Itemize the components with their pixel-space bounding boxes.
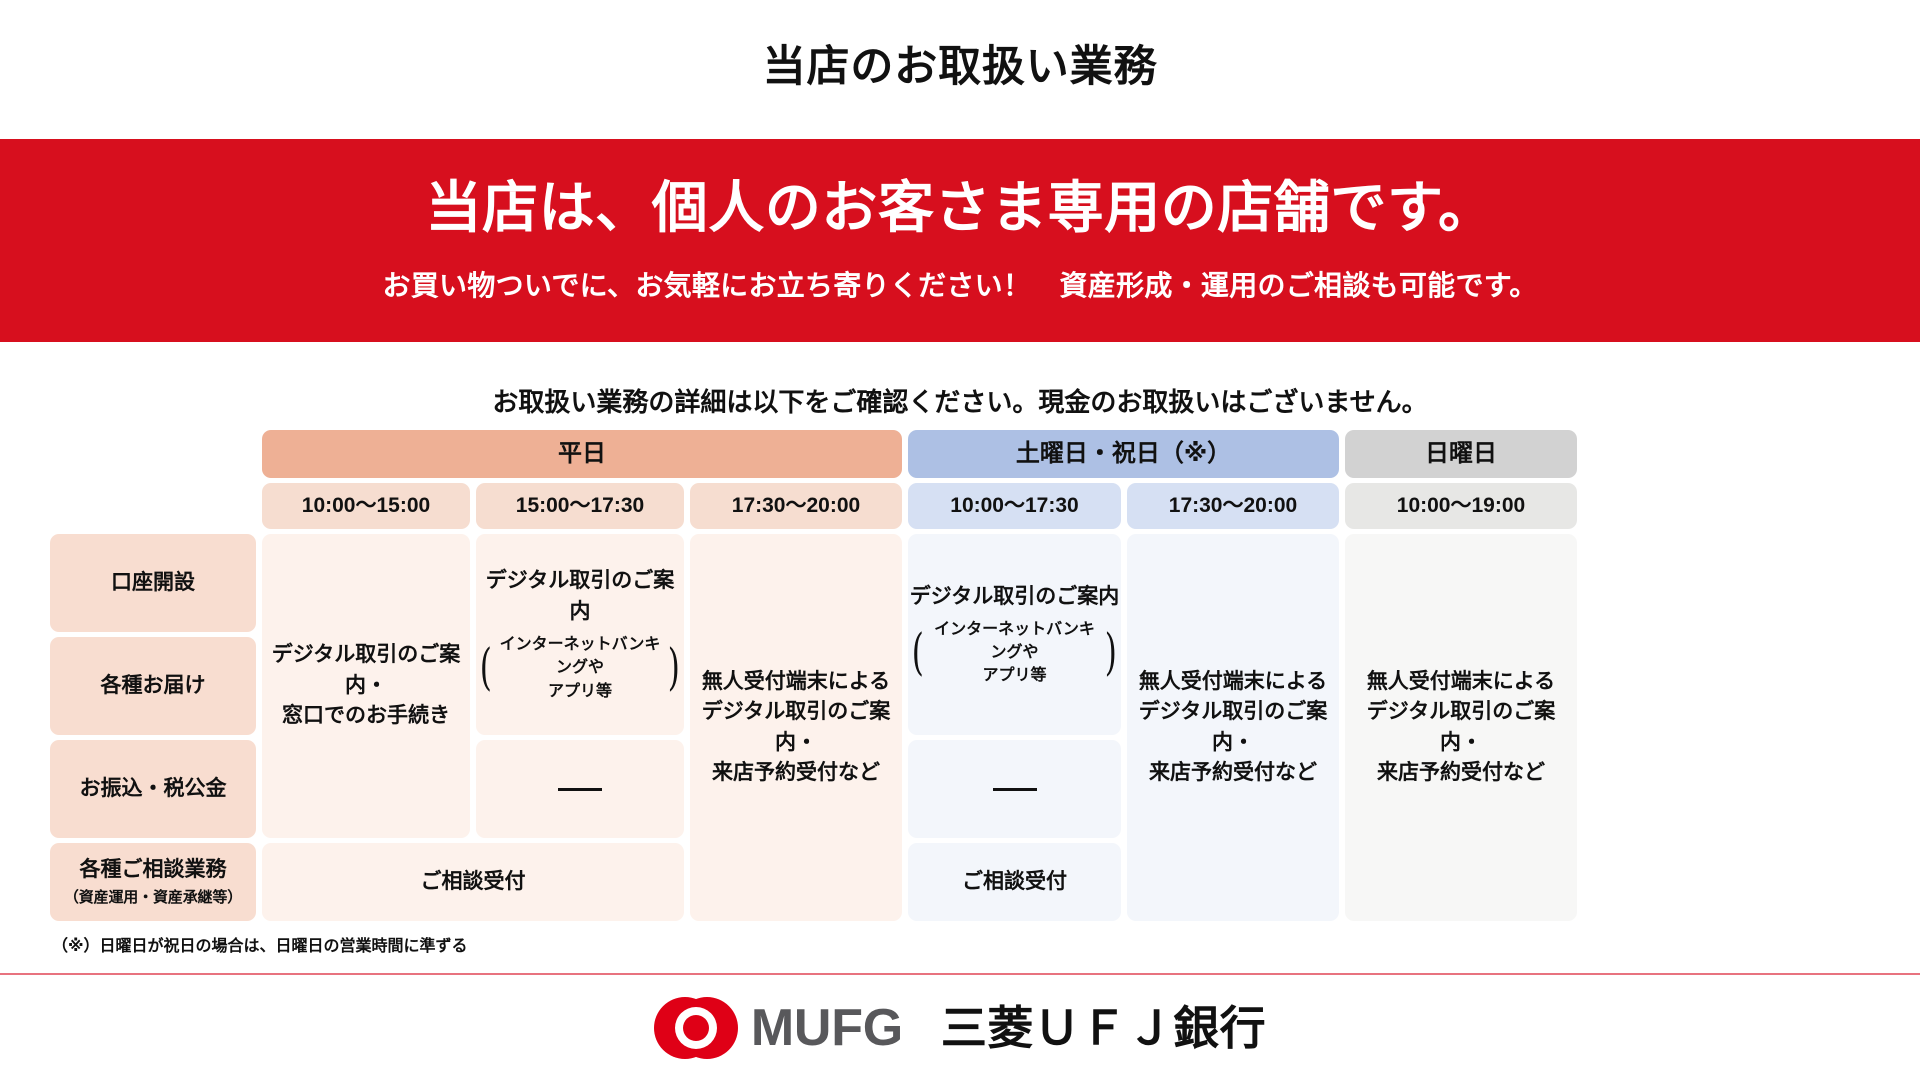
cell-weekday-1500-1730-note-text: インターネットバンキングや アプリ等 bbox=[496, 633, 665, 703]
table-footnote: （※）日曜日が祝日の場合は、日曜日の営業時間に準ずる bbox=[52, 932, 468, 956]
cell-weekday-1500-1730-title: デジタル取引のご案内 bbox=[476, 566, 684, 627]
time-header-saturday-1: 10:00〜17:30 bbox=[908, 483, 1121, 529]
table-lead-text: お取扱い業務の詳細は以下をご確認ください。現金のお取扱いはございません。 bbox=[0, 382, 1920, 419]
cell-sunday-1000-1900-text: 無人受付端末による デジタル取引のご案内・ 来店予約受付など bbox=[1345, 667, 1577, 789]
cell-saturday-1000-1730-unavailable bbox=[908, 740, 1121, 838]
cell-consultation-saturday-text: ご相談受付 bbox=[962, 867, 1067, 897]
time-header-weekday-3-label: 17:30〜20:00 bbox=[732, 491, 860, 521]
group-header-saturday: 土曜日・祝日（※） bbox=[908, 430, 1339, 478]
left-paren-glyph: ( bbox=[480, 647, 492, 688]
cell-weekday-1730-2000-text: 無人受付端末による デジタル取引のご案内・ 来店予約受付など bbox=[690, 667, 902, 789]
cell-weekday-1500-1730-note: ( インターネットバンキングや アプリ等 ) bbox=[476, 633, 684, 703]
cell-weekday-1500-1730-unavailable bbox=[476, 740, 684, 838]
unavailable-dash-icon bbox=[558, 788, 602, 791]
cell-weekday-1000-1500: デジタル取引のご案内・ 窓口でのお手続き bbox=[262, 534, 470, 838]
mufg-wordmark: MUFG bbox=[751, 1002, 903, 1054]
row-label-account-opening-text: 口座開設 bbox=[111, 568, 195, 598]
group-header-sunday-label: 日曜日 bbox=[1425, 437, 1497, 472]
cell-saturday-1730-2000-text: 無人受付端末による デジタル取引のご案内・ 来店予約受付など bbox=[1127, 667, 1339, 789]
row-label-consultation-services-subtext: （資産運用・資産承継等） bbox=[64, 887, 242, 909]
cell-consultation-weekday-text: ご相談受付 bbox=[421, 867, 526, 897]
time-header-weekday-2-label: 15:00〜17:30 bbox=[516, 491, 644, 521]
cell-consultation-saturday: ご相談受付 bbox=[908, 843, 1121, 921]
red-banner: 当店は、個人のお客さま専用の店舗です。 お買い物ついでに、お気軽にお立ち寄りくだ… bbox=[0, 139, 1920, 342]
cell-consultation-weekday: ご相談受付 bbox=[262, 843, 684, 921]
unavailable-dash-icon bbox=[993, 788, 1037, 791]
time-header-weekday-1: 10:00〜15:00 bbox=[262, 483, 470, 529]
services-table: 平日 土曜日・祝日（※） 日曜日 10:00〜15:00 15:00〜17:30… bbox=[50, 430, 1890, 920]
group-header-weekday: 平日 bbox=[262, 430, 902, 478]
right-paren-glyph: ) bbox=[1105, 632, 1117, 673]
bank-name-jp: 三菱ＵＦＪ銀行 bbox=[941, 1005, 1266, 1051]
time-header-sunday-1-label: 10:00〜19:00 bbox=[1397, 491, 1525, 521]
time-header-saturday-1-label: 10:00〜17:30 bbox=[950, 491, 1078, 521]
row-label-transfers-taxes: お振込・税公金 bbox=[50, 740, 256, 838]
time-header-saturday-2-label: 17:30〜20:00 bbox=[1169, 491, 1297, 521]
table-corner-spacer bbox=[50, 430, 256, 478]
footer: MUFG 三菱ＵＦＪ銀行 bbox=[0, 975, 1920, 1080]
row-label-various-notifications: 各種お届け bbox=[50, 637, 256, 735]
cell-saturday-1000-1730-digital: デジタル取引のご案内 ( インターネットバンキングや アプリ等 ) bbox=[908, 534, 1121, 735]
banner-headline: 当店は、個人のお客さま専用の店舗です。 bbox=[425, 177, 1494, 239]
group-header-saturday-label: 土曜日・祝日（※） bbox=[1016, 437, 1231, 472]
row-label-transfers-taxes-text: お振込・税公金 bbox=[80, 774, 227, 804]
row-label-various-notifications-text: 各種お届け bbox=[101, 671, 206, 701]
mufg-logo: MUFG 三菱ＵＦＪ銀行 bbox=[654, 997, 1266, 1059]
right-paren-glyph: ) bbox=[668, 647, 680, 688]
cell-weekday-1000-1500-text: デジタル取引のご案内・ 窓口でのお手続き bbox=[262, 640, 470, 731]
cell-saturday-1000-1730-note-text: インターネットバンキングや アプリ等 bbox=[928, 618, 1102, 688]
cell-saturday-1000-1730-note: ( インターネットバンキングや アプリ等 ) bbox=[908, 618, 1121, 688]
banner-subline: お買い物ついでに、お気軽にお立ち寄りください！ 資産形成・運用のご相談も可能です… bbox=[382, 264, 1537, 304]
group-header-weekday-label: 平日 bbox=[558, 437, 606, 472]
page-title: 当店のお取扱い業務 bbox=[0, 32, 1920, 94]
time-header-sunday-1: 10:00〜19:00 bbox=[1345, 483, 1577, 529]
time-header-weekday-3: 17:30〜20:00 bbox=[690, 483, 902, 529]
row-label-consultation-services: 各種ご相談業務 （資産運用・資産承継等） bbox=[50, 843, 256, 921]
cell-saturday-1730-2000: 無人受付端末による デジタル取引のご案内・ 来店予約受付など bbox=[1127, 534, 1339, 921]
time-header-saturday-2: 17:30〜20:00 bbox=[1127, 483, 1339, 529]
row-label-account-opening: 口座開設 bbox=[50, 534, 256, 632]
cell-sunday-1000-1900: 無人受付端末による デジタル取引のご案内・ 来店予約受付など bbox=[1345, 534, 1577, 921]
time-row-spacer bbox=[50, 483, 256, 529]
cell-weekday-1500-1730-digital: デジタル取引のご案内 ( インターネットバンキングや アプリ等 ) bbox=[476, 534, 684, 735]
left-paren-glyph: ( bbox=[912, 632, 924, 673]
time-header-weekday-2: 15:00〜17:30 bbox=[476, 483, 684, 529]
cell-weekday-1730-2000: 無人受付端末による デジタル取引のご案内・ 来店予約受付など bbox=[690, 534, 902, 921]
group-header-sunday: 日曜日 bbox=[1345, 430, 1577, 478]
mufg-circle-logo-icon bbox=[654, 997, 738, 1059]
cell-saturday-1000-1730-title: デジタル取引のご案内 bbox=[910, 582, 1120, 612]
row-label-consultation-services-text: 各種ご相談業務 bbox=[80, 855, 227, 885]
time-header-weekday-1-label: 10:00〜15:00 bbox=[302, 491, 430, 521]
